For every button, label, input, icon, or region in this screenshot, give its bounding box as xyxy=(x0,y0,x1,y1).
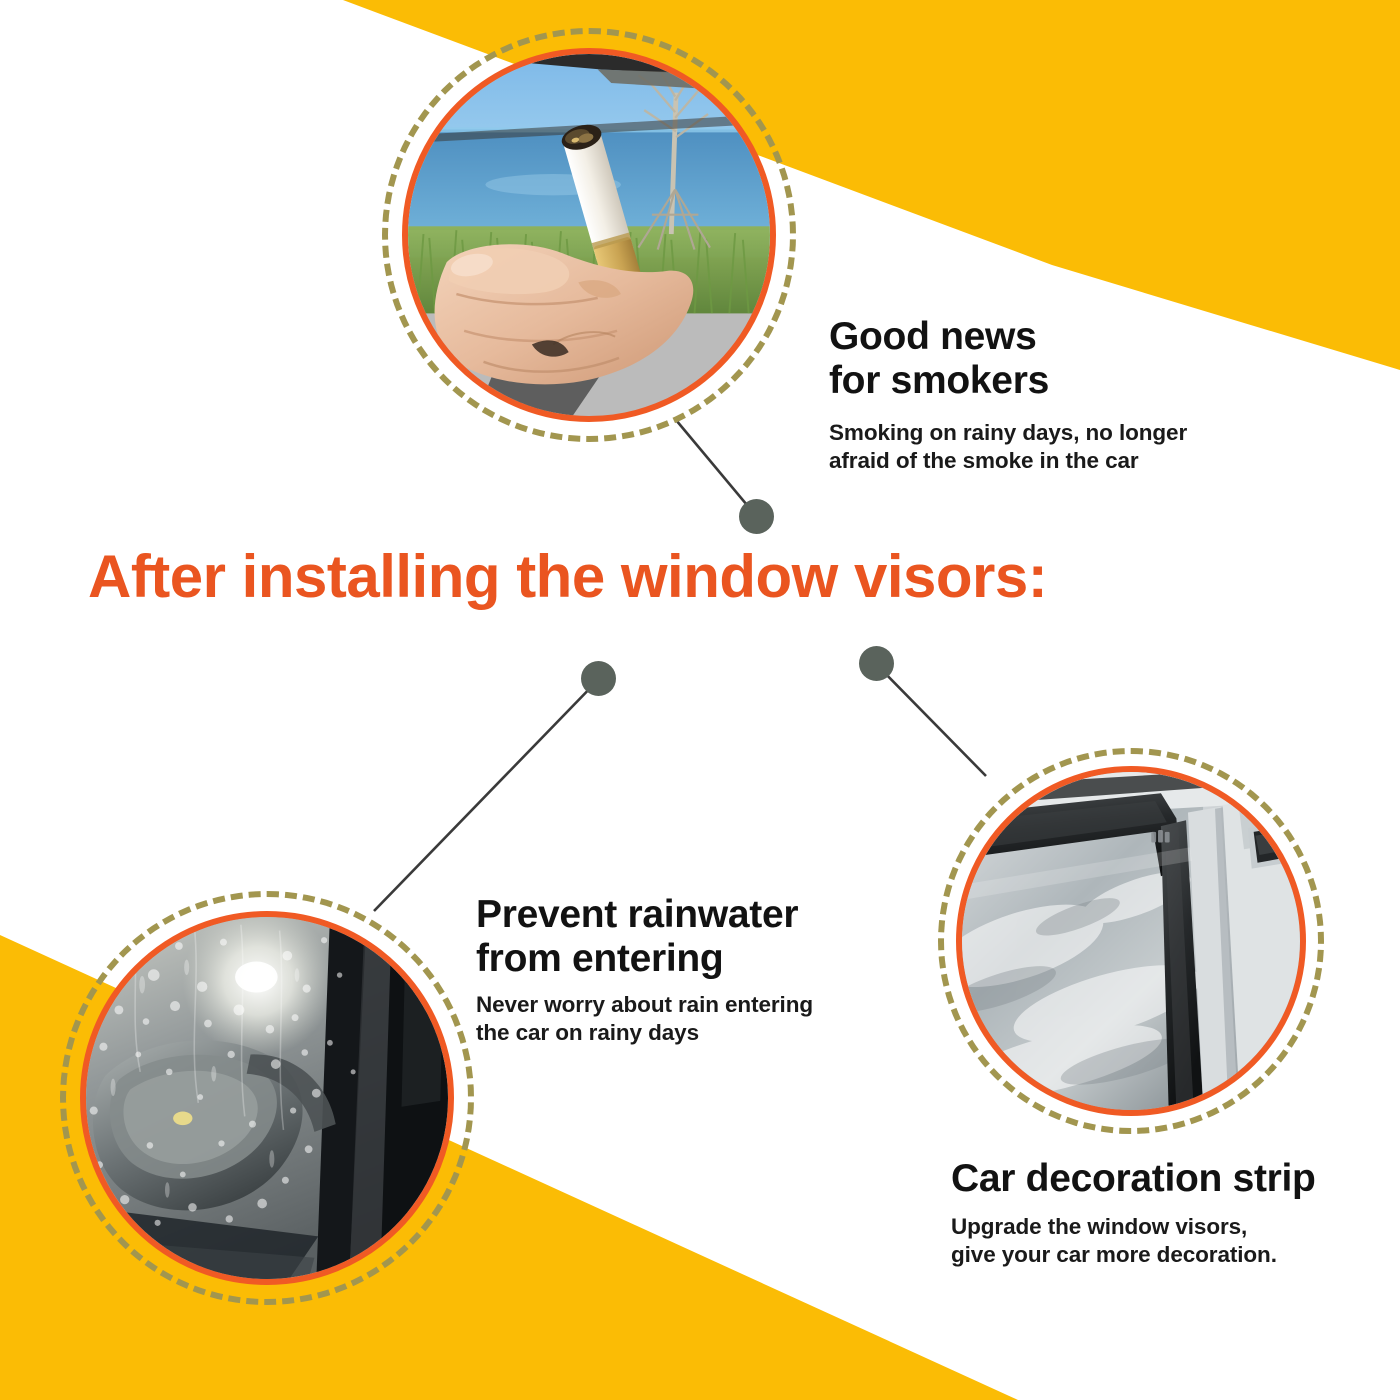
callout-rain-title: Prevent rainwater from entering xyxy=(476,893,813,981)
callout-smokers: Good news for smokers Smoking on rainy d… xyxy=(829,315,1187,475)
photo-circle-rain xyxy=(80,911,454,1285)
callout-rain-subtitle: Never worry about rain entering the car … xyxy=(476,991,813,1047)
infographic-canvas: After installing the window visors: Good… xyxy=(0,0,1400,1400)
callout-decoration-title: Car decoration strip xyxy=(951,1157,1316,1201)
connector-dot-rain xyxy=(581,661,616,696)
callout-rain: Prevent rainwater from entering Never wo… xyxy=(476,893,813,1047)
connector-dot-deco xyxy=(859,646,894,681)
photo-circle-deco xyxy=(956,766,1306,1116)
callout-decoration: Car decoration strip Upgrade the window … xyxy=(951,1157,1316,1269)
photo-circle-smokers xyxy=(402,48,776,422)
callout-decoration-subtitle: Upgrade the window visors, give your car… xyxy=(951,1213,1316,1269)
connector-dot-smokers xyxy=(739,499,774,534)
callout-smokers-subtitle: Smoking on rainy days, no longer afraid … xyxy=(829,419,1187,475)
page-headline: After installing the window visors: xyxy=(88,545,1328,608)
callout-smokers-title: Good news for smokers xyxy=(829,315,1187,403)
